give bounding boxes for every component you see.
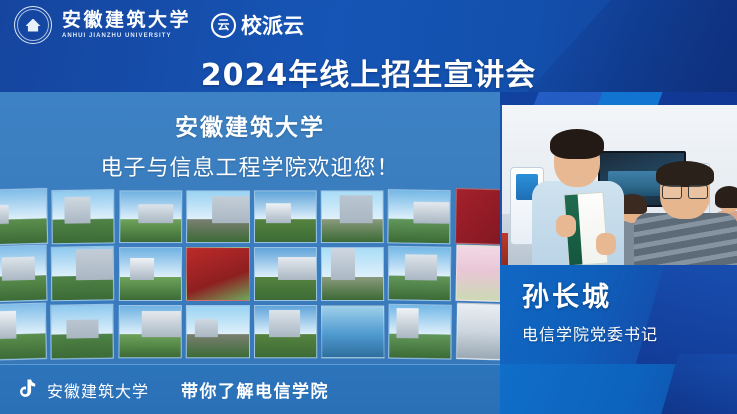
photo-tile xyxy=(253,190,316,243)
photo-tile xyxy=(0,245,48,303)
presentation-slide: 安徽建筑大学 电子与信息工程学院欢迎您！ xyxy=(0,92,500,364)
photo-tile xyxy=(119,247,183,300)
photo-tile xyxy=(51,246,115,302)
photo-tile xyxy=(118,305,182,359)
video-edge-accent xyxy=(502,233,508,265)
broadcast-screen: 安徽建筑大学 ANHUI JIANZHU UNIVERSITY 云 校派云 20… xyxy=(0,0,737,414)
photo-tile xyxy=(186,305,250,359)
university-wordmark: 安徽建筑大学 ANHUI JIANZHU UNIVERSITY xyxy=(62,11,191,39)
presenter-role: 电信学院党委书记 xyxy=(522,321,737,345)
photo-tile xyxy=(456,302,500,361)
partner-cloud-icon: 云 xyxy=(211,13,236,38)
slide-heading: 安徽建筑大学 电子与信息工程学院欢迎您！ xyxy=(0,108,500,182)
photo-tile xyxy=(119,190,182,243)
photo-tile xyxy=(321,190,384,243)
footer-tagline: 带你了解电信学院 xyxy=(181,377,329,402)
campus-photo-wall xyxy=(0,190,500,358)
photo-tile xyxy=(186,190,249,243)
photo-tile xyxy=(321,305,385,359)
douyin-music-note-icon xyxy=(18,378,38,402)
photo-tile xyxy=(0,302,47,361)
glasses-icon xyxy=(662,185,708,197)
slide-title-line2: 电子与信息工程学院欢迎您！ xyxy=(0,150,500,182)
live-video-feed[interactable] xyxy=(500,105,737,265)
photo-tile xyxy=(388,189,452,245)
video-person-guest xyxy=(634,161,737,265)
university-name-en: ANHUI JIANZHU UNIVERSITY xyxy=(62,33,191,39)
partner-logo: 云 校派云 xyxy=(211,10,304,40)
footer-right-panel xyxy=(500,364,737,414)
presenter-name: 孙长城 xyxy=(522,275,737,314)
photo-tile xyxy=(0,188,48,246)
logo-row: 安徽建筑大学 ANHUI JIANZHU UNIVERSITY 云 校派云 xyxy=(14,6,304,44)
photo-tile xyxy=(186,247,249,300)
university-name-cn: 安徽建筑大学 xyxy=(62,11,191,30)
page-title: 2024年线上招生宣讲会 xyxy=(0,50,737,94)
photo-tile xyxy=(455,188,500,246)
slide-title-line1: 安徽建筑大学 xyxy=(0,108,500,142)
photo-tile xyxy=(253,247,316,300)
photo-tile xyxy=(51,303,115,359)
footer-bar: 安徽建筑大学 带你了解电信学院 xyxy=(0,364,500,414)
video-person-host xyxy=(530,127,626,265)
presenter-name-block: 孙长城 电信学院党委书记 xyxy=(500,265,737,364)
photo-tile xyxy=(52,189,116,245)
photo-tile xyxy=(388,246,452,302)
photo-tile xyxy=(455,245,500,303)
partner-name: 校派云 xyxy=(241,10,304,40)
photo-tile xyxy=(321,247,385,300)
photo-tile xyxy=(254,305,318,359)
photo-tile xyxy=(388,303,452,359)
footer-account-name: 安徽建筑大学 xyxy=(47,378,149,402)
university-crest-icon xyxy=(14,6,52,44)
